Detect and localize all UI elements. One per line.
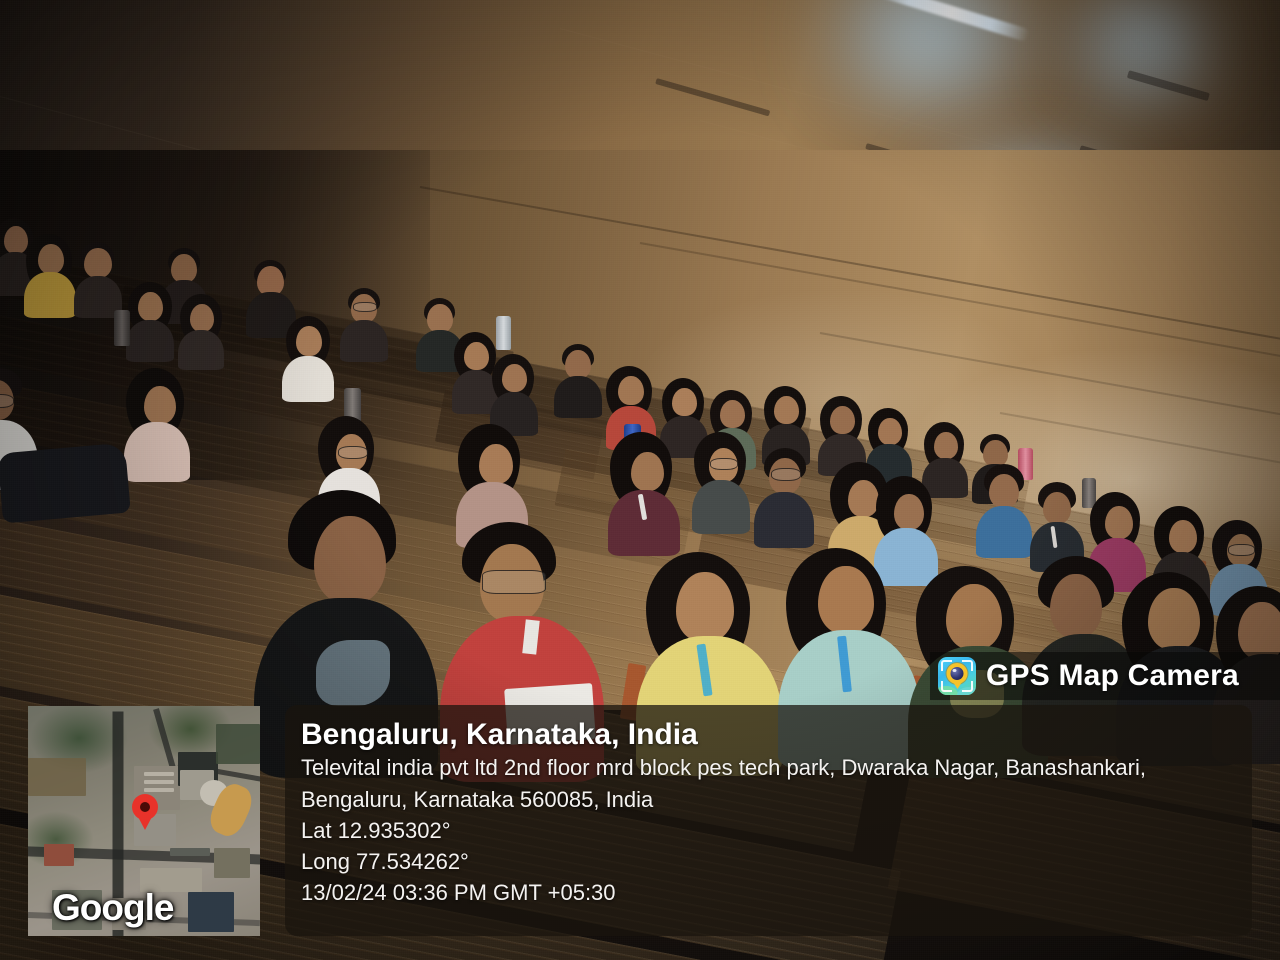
water-bottle xyxy=(496,316,511,350)
gps-map-camera-badge: GPS Map Camera xyxy=(930,652,1280,700)
latitude-value: Lat 12.935302° xyxy=(301,815,1252,846)
map-thumbnail[interactable]: Google xyxy=(28,706,260,936)
map-pin-icon xyxy=(132,794,158,820)
location-title: Bengaluru, Karnataka, India xyxy=(301,717,1252,752)
longitude-value: Long 77.534262° xyxy=(301,846,1252,877)
address-line-1: Televital india pvt ltd 2nd floor mrd bl… xyxy=(301,752,1252,783)
google-watermark: Google xyxy=(52,889,173,926)
location-info-panel: Bengaluru, Karnataka, India Televital in… xyxy=(285,705,1252,936)
water-bottle xyxy=(114,310,130,346)
capture-timestamp: 13/02/24 03:36 PM GMT +05:30 xyxy=(301,877,1252,908)
backpack xyxy=(0,443,131,524)
gps-badge-label: GPS Map Camera xyxy=(986,661,1239,691)
gps-map-camera-app-icon xyxy=(938,657,976,695)
screenshot-root: GPS Map Camera Google Bengaluru, Karnata… xyxy=(0,0,1280,960)
address-line-2: Bengaluru, Karnataka 560085, India xyxy=(301,784,1252,815)
shirt-graphic xyxy=(316,640,390,706)
